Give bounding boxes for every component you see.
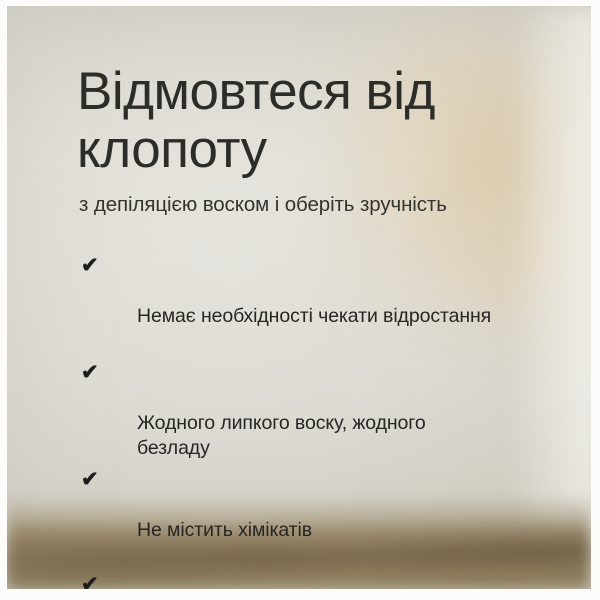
benefit-label: Не містить хімікатів bbox=[137, 519, 312, 541]
benefit-list: ✔ Немає необхідності чекати відростання … bbox=[79, 254, 584, 589]
benefit-list-item: ✔ Немає необхідності чекати відростання bbox=[79, 254, 584, 329]
check-icon: ✔ bbox=[81, 572, 107, 589]
benefit-label: Жодного липкого воску, жодного безладу bbox=[137, 412, 426, 459]
benefit-label: Немає необхідності чекати відростання bbox=[137, 305, 491, 327]
check-icon: ✔ bbox=[81, 360, 107, 385]
subheadline: з депіляцією воском і оберіть зручність bbox=[79, 192, 579, 218]
promo-poster: Відмовтеся від клопоту з депіляцією воск… bbox=[0, 0, 600, 600]
benefit-list-item: ✔ Жодного липкого воску, жодного безладу bbox=[79, 361, 584, 461]
check-icon: ✔ bbox=[81, 467, 107, 492]
benefit-list-item: ✔ Ніжний до шкіри bbox=[79, 573, 584, 589]
benefit-list-item: ✔ Не містить хімікатів bbox=[79, 468, 584, 543]
headline: Відмовтеся від клопоту bbox=[77, 63, 547, 179]
check-icon: ✔ bbox=[81, 253, 107, 278]
blurred-photo-background: Відмовтеся від клопоту з депіляцією воск… bbox=[7, 6, 591, 589]
poster-text-content: Відмовтеся від клопоту з депіляцією воск… bbox=[7, 6, 591, 589]
